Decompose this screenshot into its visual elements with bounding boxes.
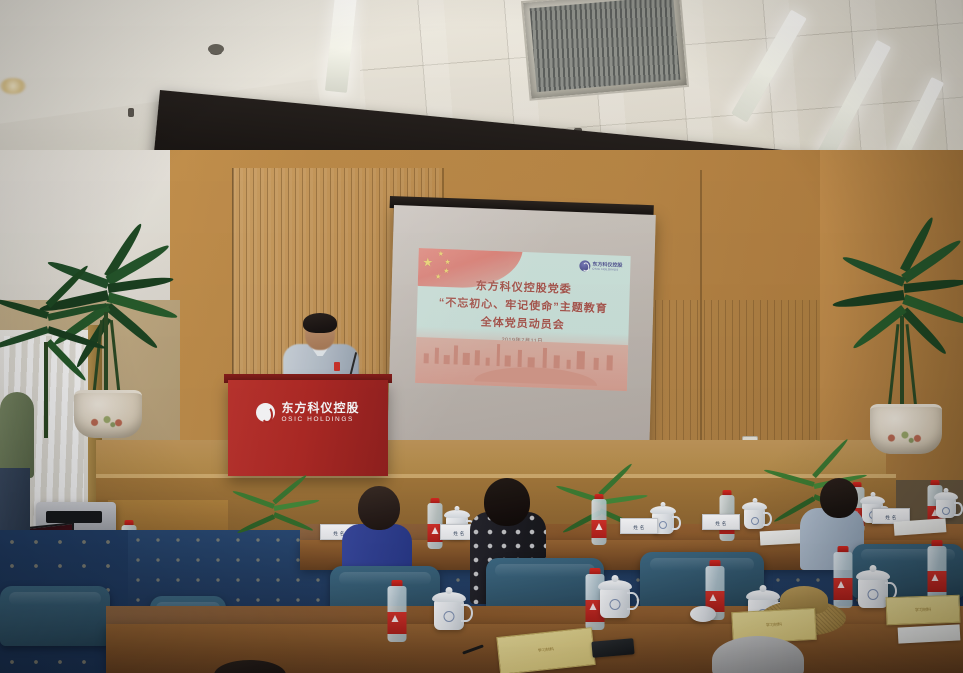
name-placard[interactable]: 姓 名 [702, 514, 740, 530]
conference-room-photo: ★ ★ ★ ★ ★ 东方科仪控股 OSIC HOLDINGS 东方科仪控股党委 … [0, 0, 963, 673]
attendee-left-aisle [0, 392, 34, 478]
osic-logo-icon [579, 260, 590, 271]
meeting-booklet[interactable]: 学习材料 [886, 595, 961, 626]
meeting-booklet-text: 学习材料 [887, 606, 959, 615]
attendee-left-aisle-legs [0, 468, 30, 530]
slide-logo-en: OSIC HOLDINGS [592, 267, 622, 271]
smoke-detector-icon [208, 44, 224, 54]
flag-star-icon: ★ [422, 256, 433, 268]
lidded-ceramic-mug[interactable] [600, 588, 630, 618]
downlight-icon [0, 78, 26, 94]
presentation-slide: ★ ★ ★ ★ ★ 东方科仪控股 OSIC HOLDINGS 东方科仪控股党委 … [415, 248, 631, 391]
attendee-right-blue-head [820, 478, 858, 518]
name-placard-text: 姓 名 [703, 521, 739, 527]
projection-screen: ★ ★ ★ ★ ★ 东方科仪控股 OSIC HOLDINGS 东方科仪控股党委 … [387, 205, 656, 465]
podium: 东方科仪控股 OSIC HOLDINGS [228, 380, 388, 476]
flag-star-icon: ★ [443, 268, 449, 275]
sprinkler-head-icon [128, 108, 134, 117]
wall-seam [700, 170, 702, 470]
party-member-badge-icon [334, 362, 340, 371]
meeting-booklet-text: 学习材料 [499, 642, 593, 658]
lidded-ceramic-mug[interactable] [744, 508, 765, 529]
audience-chair[interactable] [0, 586, 110, 646]
meeting-booklet-text: 学习材料 [733, 620, 815, 630]
attendee-polkadot-head [484, 478, 530, 526]
osic-circular-s-logo-icon [256, 403, 275, 422]
podium-brand-cn: 东方科仪控股 [281, 402, 359, 416]
flag-star-icon: ★ [438, 251, 444, 258]
mug-saucer[interactable] [690, 606, 716, 622]
attendee-front-left-head [358, 486, 400, 530]
name-placard[interactable]: 姓 名 [620, 518, 658, 534]
flag-star-icon: ★ [444, 259, 450, 266]
lidded-ceramic-mug[interactable] [434, 600, 464, 630]
podium-brand: 东方科仪控股 OSIC HOLDINGS [228, 402, 388, 423]
handout-paper[interactable] [898, 624, 961, 643]
name-placard-text: 姓 名 [621, 525, 657, 531]
audience-chair[interactable] [640, 552, 764, 610]
podium-brand-en: OSIC HOLDINGS [281, 416, 359, 423]
lidded-ceramic-mug[interactable] [936, 498, 956, 518]
slide-logo: 东方科仪控股 OSIC HOLDINGS [579, 260, 622, 273]
city-skyline-silhouette [415, 337, 628, 391]
potted-palm [838, 262, 963, 490]
potted-spider-plant [228, 492, 320, 548]
lidded-ceramic-mug[interactable] [858, 578, 888, 608]
water-bottle[interactable] [590, 494, 608, 550]
ceiling-ac-cassette [521, 0, 689, 101]
speaker-hair [303, 313, 337, 333]
name-placard-text: 姓 名 [873, 515, 909, 521]
ceramic-planter [870, 404, 942, 454]
water-bottle[interactable] [386, 580, 408, 646]
